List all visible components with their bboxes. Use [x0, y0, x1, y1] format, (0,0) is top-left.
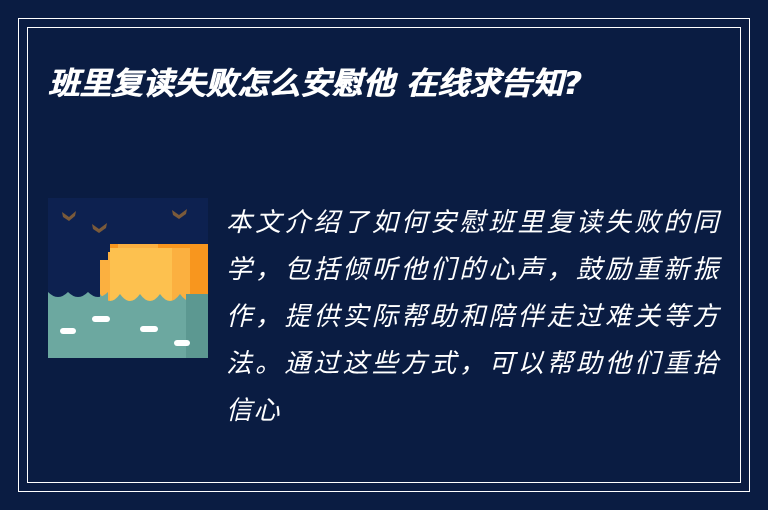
article-summary: 本文介绍了如何安慰班里复读失败的同学，包括倾听他们的心声，鼓励重新振作，提供实际… [226, 198, 720, 435]
page-title: 班里复读失败怎么安慰他 在线求告知? [48, 60, 668, 108]
article-card: 班里复读失败怎么安慰他 在线求告知? [0, 0, 768, 510]
card-content: 本文介绍了如何安慰班里复读失败的同学，包括倾听他们的心声，鼓励重新振作，提供实际… [48, 198, 720, 435]
cliff-front [110, 248, 172, 302]
illustration-canvas [48, 198, 208, 358]
cliff-right-band [172, 248, 190, 302]
water-shadow [186, 294, 208, 358]
seaside-cliff-illustration [48, 198, 208, 358]
